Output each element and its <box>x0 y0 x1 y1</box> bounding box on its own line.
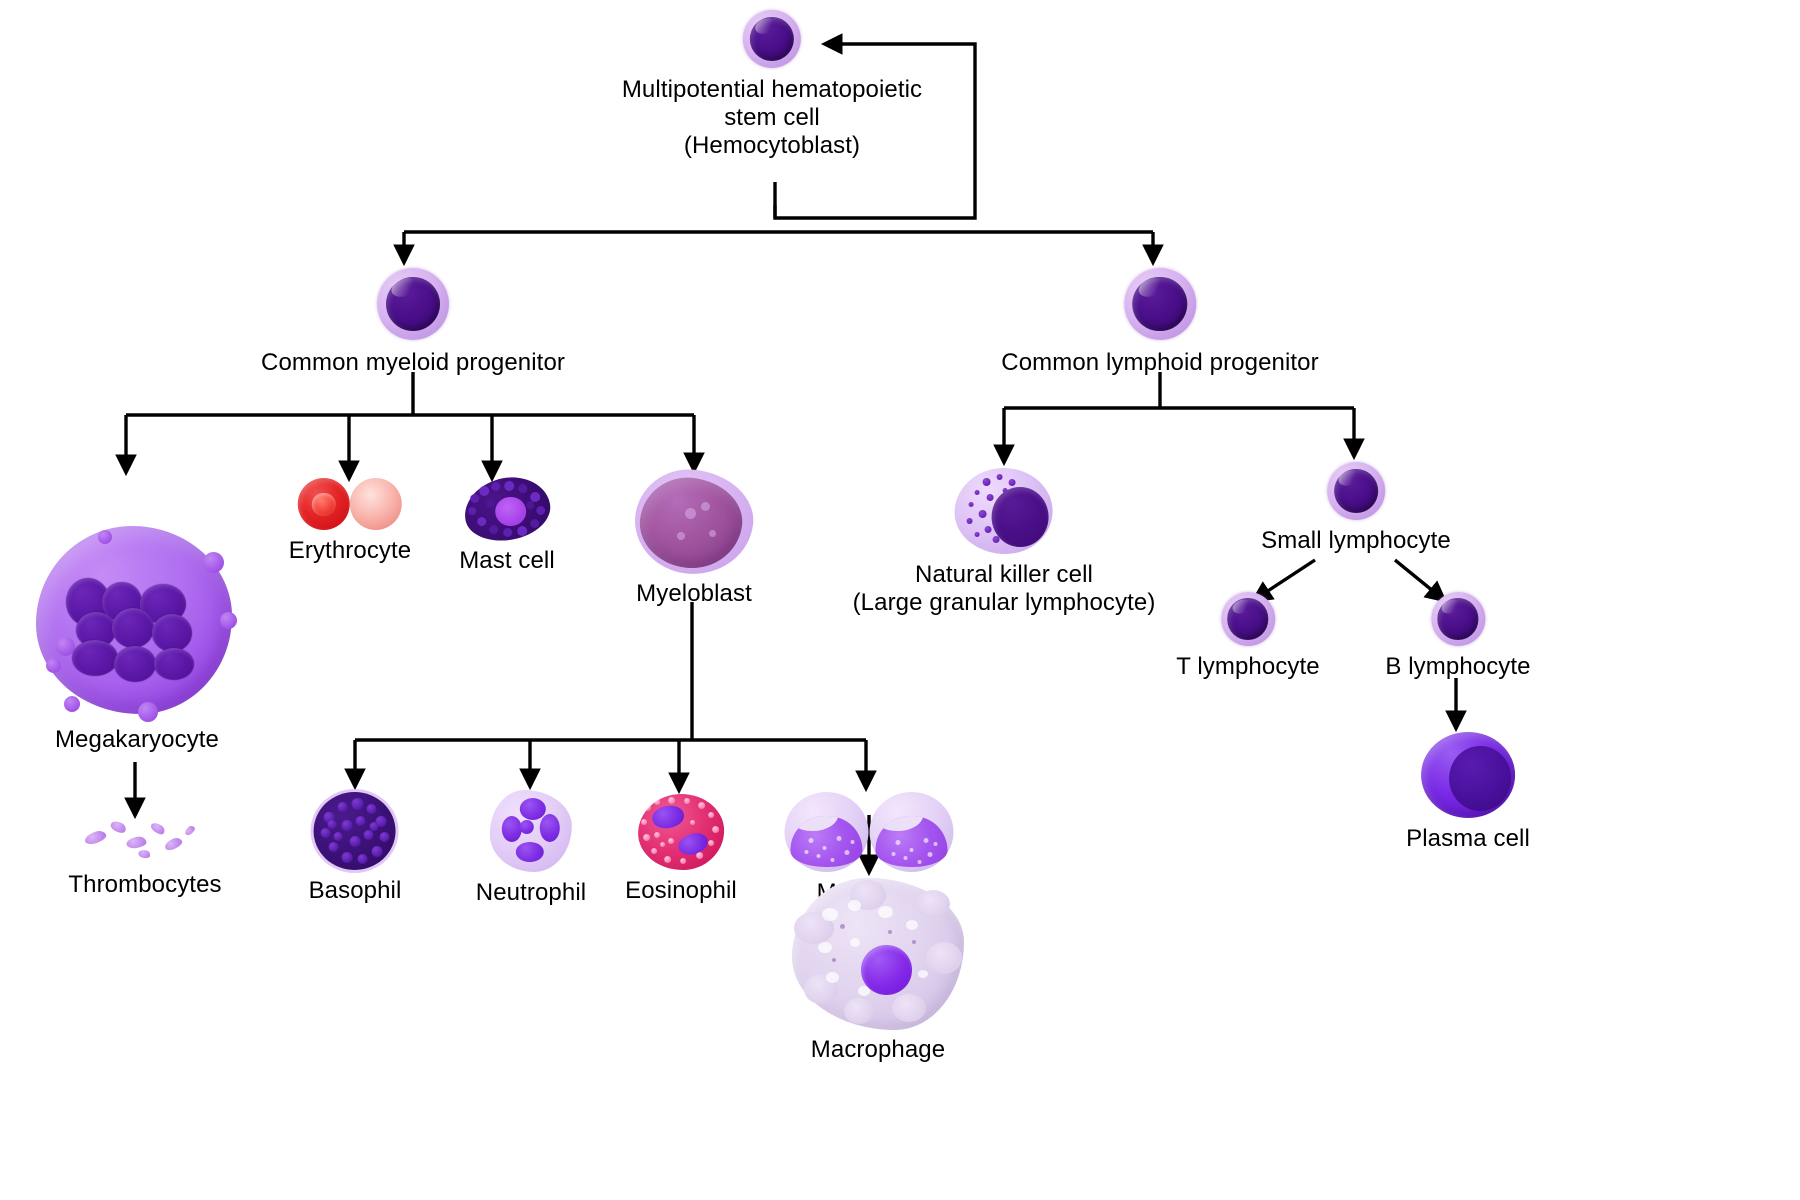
megakaryocyte-icon <box>30 520 244 720</box>
lymphocyte-icon <box>1431 592 1485 646</box>
natural-killer-cell-icon <box>955 468 1053 554</box>
monocyte-icon <box>870 792 954 872</box>
node-b-lymphocyte[interactable]: B lymphocyte <box>1385 592 1530 681</box>
lymphocyte-icon <box>1327 462 1385 520</box>
erythrocyte-icon <box>298 478 350 530</box>
node-plasma-cell[interactable]: Plasma cell <box>1406 732 1530 853</box>
node-small-lymphocyte[interactable]: Small lymphocyte <box>1261 462 1451 555</box>
node-eosinophil-label: Eosinophil <box>625 877 737 905</box>
node-lymphoid-progenitor-label: Common lymphoid progenitor <box>1001 349 1318 377</box>
progenitor-cell-icon <box>1124 268 1196 340</box>
node-basophil[interactable]: Basophil <box>309 792 402 905</box>
node-erythrocyte[interactable]: Erythrocyte <box>289 478 411 565</box>
basophil-icon <box>314 792 396 870</box>
erythrocyte-icon <box>350 478 402 530</box>
node-lymphoid-progenitor[interactable]: Common lymphoid progenitor <box>1001 268 1318 377</box>
node-natural-killer-cell-label: Natural killer cell (Large granular lymp… <box>853 561 1156 617</box>
mast-cell-icon <box>464 478 550 540</box>
node-neutrophil-label: Neutrophil <box>476 879 586 907</box>
lymphocyte-icon <box>1221 592 1275 646</box>
monocyte-icon <box>785 792 869 872</box>
node-t-lymphocyte[interactable]: T lymphocyte <box>1176 592 1319 681</box>
stem-cell-icon <box>743 10 801 68</box>
node-basophil-label: Basophil <box>309 877 402 905</box>
node-myeloblast[interactable]: Myeloblast <box>635 470 753 608</box>
node-macrophage[interactable]: Macrophage <box>792 878 964 1064</box>
node-b-lymphocyte-label: B lymphocyte <box>1385 653 1530 681</box>
node-megakaryocyte-label: Megakaryocyte <box>30 726 244 754</box>
node-megakaryocyte[interactable]: Megakaryocyte <box>30 520 244 754</box>
node-thrombocytes-label: Thrombocytes <box>68 871 221 899</box>
node-myeloblast-label: Myeloblast <box>635 580 753 608</box>
node-erythrocyte-label: Erythrocyte <box>289 537 411 565</box>
node-small-lymphocyte-label: Small lymphocyte <box>1261 527 1451 555</box>
node-plasma-cell-label: Plasma cell <box>1406 825 1530 853</box>
node-macrophage-label: Macrophage <box>792 1036 964 1064</box>
node-stem-cell[interactable]: Multipotential hematopoietic stem cell (… <box>622 10 922 159</box>
node-t-lymphocyte-label: T lymphocyte <box>1176 653 1319 681</box>
node-myeloid-progenitor[interactable]: Common myeloid progenitor <box>261 268 565 377</box>
myeloblast-icon <box>635 470 753 574</box>
node-thrombocytes[interactable]: Thrombocytes <box>68 818 221 899</box>
hematopoiesis-diagram: Multipotential hematopoietic stem cell (… <box>0 0 1550 1050</box>
plasma-cell-icon <box>1421 732 1515 818</box>
node-mast-cell[interactable]: Mast cell <box>459 478 555 575</box>
eosinophil-icon <box>638 794 724 870</box>
macrophage-icon <box>792 878 964 1030</box>
neutrophil-icon <box>490 790 572 872</box>
node-eosinophil[interactable]: Eosinophil <box>625 794 737 905</box>
node-myeloid-progenitor-label: Common myeloid progenitor <box>261 349 565 377</box>
node-mast-cell-label: Mast cell <box>459 547 555 575</box>
node-stem-cell-label: Multipotential hematopoietic stem cell (… <box>622 76 922 159</box>
node-neutrophil[interactable]: Neutrophil <box>476 790 586 907</box>
thrombocytes-icon <box>80 818 210 864</box>
node-natural-killer-cell[interactable]: Natural killer cell (Large granular lymp… <box>853 468 1156 617</box>
progenitor-cell-icon <box>377 268 449 340</box>
